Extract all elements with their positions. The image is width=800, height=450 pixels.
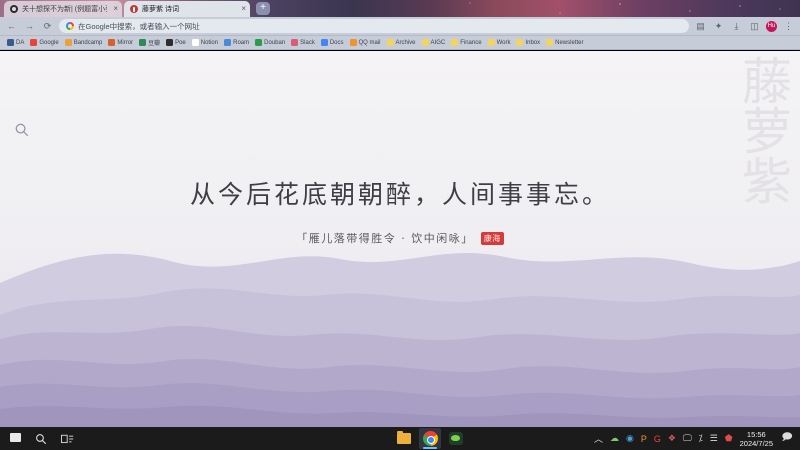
windows-start-icon[interactable] [10, 433, 21, 444]
bookmark-item[interactable]: 豆瓣 [136, 38, 163, 47]
sidepanel-icon[interactable]: ◫ [748, 20, 761, 33]
tab-0[interactable]: 关十想探不为新| (例题富小张 × [4, 1, 122, 17]
taskbar-app-file-explorer[interactable] [393, 428, 415, 449]
bookmark-item[interactable]: Finance [448, 39, 484, 46]
tab-close-icon[interactable]: × [241, 5, 246, 13]
bookmark-label: Archive [396, 40, 416, 46]
input-icon[interactable]: ⁒ [699, 433, 703, 444]
notification-icon[interactable]: 🗩 [780, 432, 794, 446]
bookmark-item[interactable]: Poe [163, 39, 189, 46]
bookmark-favicon-icon [488, 39, 495, 46]
bookmark-label: Google [39, 40, 58, 46]
address-bar[interactable]: 在Google中搜索，或者输入一个网址 [59, 19, 689, 33]
screen: 关十想探不为新| (例题富小张 × 藤萝紫 诗词 × + ← → ⟳ 在Goog… [0, 0, 800, 450]
bookmark-label: Slack [300, 40, 315, 46]
search-icon[interactable] [14, 122, 30, 138]
bookmark-item[interactable]: Mirror [105, 39, 136, 46]
menu-icon[interactable]: ⋮ [782, 20, 795, 33]
bookmark-label: Notion [201, 40, 218, 46]
github-icon [10, 5, 18, 13]
tab-strip: 关十想探不为新| (例题富小张 × 藤萝紫 诗词 × + [0, 0, 800, 17]
bookmark-label: Work [497, 40, 511, 46]
downloads-icon[interactable]: ⤓ [730, 20, 743, 33]
red-circle-icon [130, 5, 138, 13]
windows-taskbar: ︿ ☁ ◉ P G ❖ 🖵 ⁒ ☰ ⬟ 15:56 2024/7/25 🗩 [0, 427, 800, 450]
avatar[interactable]: Hu [766, 21, 777, 32]
bookmark-favicon-icon [7, 39, 14, 46]
reload-icon[interactable]: ⟳ [41, 20, 54, 33]
bookmark-favicon-icon [291, 39, 298, 46]
bookmark-label: DA [16, 40, 24, 46]
reading-list-icon[interactable]: ▤ [694, 20, 707, 33]
forward-icon[interactable]: → [23, 20, 36, 33]
bookmark-favicon-icon [108, 39, 115, 46]
new-tab-button[interactable]: + [256, 2, 270, 15]
tab-title: 藤萝紫 诗词 [142, 4, 179, 14]
bookmark-label: Docs [330, 40, 344, 46]
bookmarks-bar: DAGoogleBandcampMirror豆瓣PoeNotionRoamDou… [0, 36, 800, 50]
quote-text: 从今后花底朝朝醉，人间事事忘。 [0, 177, 800, 212]
bookmark-favicon-icon [224, 39, 231, 46]
bookmark-item[interactable]: AIGC [419, 39, 449, 46]
tab-title: 关十想探不为新| (例题富小张 [22, 4, 107, 14]
pdf-icon[interactable]: P [641, 434, 647, 444]
bookmark-label: Douban [264, 40, 285, 46]
monitor-icon[interactable]: 🖵 [683, 433, 692, 444]
bookmark-label: Roam [233, 40, 249, 46]
address-bar-text: 在Google中搜索，或者输入一个网址 [78, 21, 200, 32]
bookmark-label: Newsletter [555, 40, 583, 46]
bookmark-favicon-icon [65, 39, 72, 46]
bookmark-item[interactable]: Google [27, 39, 61, 46]
bookmark-item[interactable]: Archive [384, 39, 419, 46]
taskbar-left [0, 433, 300, 445]
chrome-browser-window: 关十想探不为新| (例题富小张 × 藤萝紫 诗词 × + ← → ⟳ 在Goog… [0, 0, 800, 427]
bookmark-favicon-icon [422, 39, 429, 46]
bookmark-label: Poe [175, 40, 186, 46]
bookmark-item[interactable]: Douban [252, 39, 288, 46]
bookmark-favicon-icon [546, 39, 553, 46]
task-view-icon[interactable] [61, 434, 74, 444]
bookmark-item[interactable]: Bandcamp [62, 39, 106, 46]
bookmark-favicon-icon [30, 39, 37, 46]
bookmark-favicon-icon [350, 39, 357, 46]
bookmark-label: Inbox [525, 40, 540, 46]
bookmark-favicon-icon [516, 39, 523, 46]
app-icon[interactable]: ⬟ [725, 433, 733, 444]
bookmark-favicon-icon [139, 39, 146, 46]
bookmark-label: Finance [460, 40, 481, 46]
bookmark-item[interactable]: Slack [288, 39, 318, 46]
bookmark-item[interactable]: QQ mail [347, 39, 384, 46]
quote-source-row: 「雁儿落带得胜令 · 饮中闲咏」 康海 [0, 230, 800, 246]
bookmark-item[interactable]: Notion [189, 39, 221, 46]
toolbar-actions: ▤ ✦ ⤓ ◫ Hu ⋮ [694, 20, 795, 33]
bookmark-favicon-icon [387, 39, 394, 46]
menu-icon[interactable]: ☰ [710, 433, 718, 444]
chevron-up-icon[interactable]: ︿ [594, 432, 603, 445]
folder-icon [397, 433, 411, 444]
bookmark-label: QQ mail [359, 40, 381, 46]
bookmark-label: 豆瓣 [148, 38, 160, 47]
bookmark-label: Bandcamp [74, 40, 103, 46]
page-content: 藤萝紫 从今后花底朝朝醉，人间事事忘。 「雁儿落带得胜令 · 饮中闲咏」 [0, 51, 800, 427]
bookmark-item[interactable]: Work [485, 39, 514, 46]
bookmark-favicon-icon [451, 39, 458, 46]
wechat-icon [449, 432, 463, 445]
bookmark-item[interactable]: Newsletter [543, 39, 586, 46]
taskbar-apps [300, 428, 560, 449]
taskbar-tray: ︿ ☁ ◉ P G ❖ 🖵 ⁒ ☰ ⬟ 15:56 2024/7/25 🗩 [560, 430, 800, 448]
tab-close-icon[interactable]: × [113, 5, 118, 13]
taskbar-app-google-chrome[interactable] [419, 428, 441, 449]
back-icon[interactable]: ← [5, 20, 18, 33]
bookmark-item[interactable]: Inbox [513, 39, 543, 46]
search-icon[interactable] [35, 433, 47, 445]
bookmark-favicon-icon [321, 39, 328, 46]
bookmark-favicon-icon [192, 39, 199, 46]
chrome-icon [423, 431, 438, 446]
taskbar-clock[interactable]: 15:56 2024/7/25 [740, 430, 773, 448]
clock-date: 2024/7/25 [740, 439, 773, 448]
navigation-toolbar: ← → ⟳ 在Google中搜索，或者输入一个网址 ▤ ✦ ⤓ ◫ Hu ⋮ [0, 17, 800, 36]
network-icon[interactable]: ❖ [668, 433, 676, 444]
quote-source: 「雁儿落带得胜令 · 饮中闲咏」 [296, 230, 474, 246]
author-badge: 康海 [481, 232, 504, 245]
google-icon[interactable]: G [654, 434, 661, 444]
bookmark-item[interactable]: DA [4, 39, 27, 46]
bookmark-favicon-icon [255, 39, 262, 46]
taskbar-app-wechat[interactable] [445, 428, 467, 449]
bookmark-item[interactable]: Roam [221, 39, 252, 46]
extensions-icon[interactable]: ✦ [712, 20, 725, 33]
browser-icon[interactable]: ◉ [626, 433, 634, 444]
bookmark-favicon-icon [166, 39, 173, 46]
clock-time: 15:56 [740, 430, 773, 439]
bookmark-label: AIGC [431, 40, 446, 46]
quote-block: 从今后花底朝朝醉，人间事事忘。 「雁儿落带得胜令 · 饮中闲咏」 康海 [0, 177, 800, 246]
bookmark-item[interactable]: Docs [318, 39, 347, 46]
tab-1[interactable]: 藤萝紫 诗词 × [124, 1, 250, 17]
cloud-icon[interactable]: ☁ [610, 433, 619, 444]
google-icon [66, 22, 74, 30]
bookmark-label: Mirror [117, 40, 133, 46]
